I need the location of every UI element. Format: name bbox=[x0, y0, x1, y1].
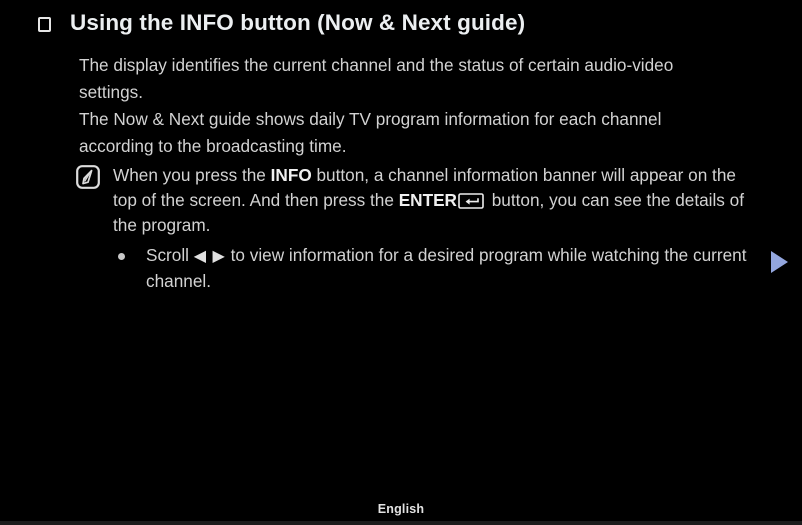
page-title: Using the INFO button (Now & Next guide) bbox=[70, 10, 525, 36]
bottom-strip bbox=[0, 521, 802, 525]
manual-page: Using the INFO button (Now & Next guide)… bbox=[0, 0, 802, 525]
body-paragraph-1: The display identifies the current chann… bbox=[79, 52, 739, 106]
next-page-arrow-icon[interactable] bbox=[771, 251, 788, 273]
body-paragraph-2: The Now & Next guide shows daily TV prog… bbox=[79, 106, 739, 160]
note-text-1: When you press the bbox=[113, 165, 271, 185]
note-bold-info: INFO bbox=[271, 165, 312, 185]
square-outline-bullet-icon bbox=[38, 17, 51, 32]
sub-bullet-text: Scroll ◀ ▶ to view information for a des… bbox=[146, 243, 756, 294]
arrow-right-icon: ▶ bbox=[213, 248, 226, 265]
sub-text-2: to view information for a desired progra… bbox=[146, 245, 747, 291]
arrow-left-icon: ◀ bbox=[194, 248, 207, 265]
note-pencil-icon bbox=[76, 165, 100, 189]
enter-key-icon bbox=[458, 191, 484, 207]
page-title-row: Using the INFO button (Now & Next guide) bbox=[38, 10, 525, 36]
note-bold-enter: ENTER bbox=[399, 190, 457, 210]
note-text: When you press the INFO button, a channe… bbox=[113, 163, 761, 238]
note-block: When you press the INFO button, a channe… bbox=[76, 163, 766, 238]
sub-bullet-item: Scroll ◀ ▶ to view information for a des… bbox=[118, 243, 758, 294]
dot-bullet-icon bbox=[118, 253, 125, 260]
footer-language-label: English bbox=[0, 502, 802, 516]
sub-text-1: Scroll bbox=[146, 245, 194, 265]
